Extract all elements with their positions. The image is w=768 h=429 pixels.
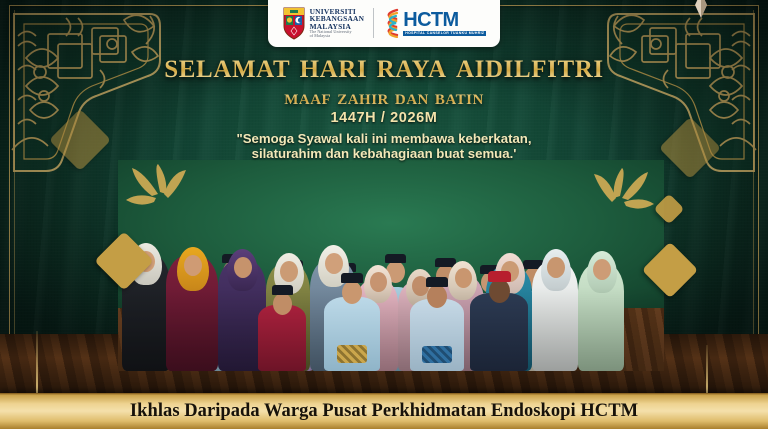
group-photo bbox=[118, 160, 664, 371]
hctm-acronym: HCTM bbox=[403, 10, 486, 30]
greeting-title: Selamat Hari Raya Aidilfitri bbox=[0, 48, 768, 84]
gold-diamond-ornament bbox=[688, 0, 714, 18]
songket-sampin bbox=[337, 345, 367, 363]
songket-sampin-2 bbox=[422, 346, 452, 363]
greeting-quote: "Semoga Syawal kali ini membawa keberkat… bbox=[0, 131, 768, 162]
greeting-text-block: Selamat Hari Raya Aidilfitri Maaf Zahir … bbox=[0, 48, 768, 162]
gold-rod-right bbox=[706, 345, 708, 393]
hari-raya-greeting-poster: Universiti Kebangsaan Malaysia The Natio… bbox=[0, 0, 768, 429]
red-headwrap bbox=[488, 271, 511, 282]
logo-plate: Universiti Kebangsaan Malaysia The Natio… bbox=[268, 0, 500, 47]
person-front-3 bbox=[470, 263, 528, 371]
greeting-quote-line2: silaturahim dan kebahagiaan buat semua.' bbox=[0, 146, 768, 162]
hctm-full-name: HOSPITAL CANSELOR TUANKU MUHRIZ bbox=[403, 31, 486, 37]
footer-banner-text: Ikhlas Daripada Warga Pusat Perkhidmatan… bbox=[130, 401, 638, 422]
photo-bottom-shade bbox=[118, 160, 664, 371]
greeting-quote-line1: "Semoga Syawal kali ini membawa keberkat… bbox=[0, 131, 768, 147]
person-front-2 bbox=[410, 271, 464, 371]
greeting-year: 1447H / 2026M bbox=[0, 110, 768, 126]
gold-rod-left bbox=[36, 331, 38, 393]
greeting-subtitle: Maaf Zahir dan Batin bbox=[0, 85, 768, 108]
person-front-1 bbox=[324, 267, 380, 371]
hctm-logo: HCTM HOSPITAL CANSELOR TUANKU MUHRIZ bbox=[383, 8, 486, 38]
person-front-4 bbox=[258, 279, 306, 371]
ukm-logo: Universiti Kebangsaan Malaysia The Natio… bbox=[282, 6, 365, 40]
hctm-dna-helix-icon bbox=[383, 8, 401, 38]
footer-banner: Ikhlas Daripada Warga Pusat Perkhidmatan… bbox=[0, 393, 768, 429]
ukm-crest-icon bbox=[282, 6, 306, 40]
logo-divider bbox=[373, 8, 374, 38]
ukm-tagline-line2: of Malaysia bbox=[310, 34, 365, 38]
